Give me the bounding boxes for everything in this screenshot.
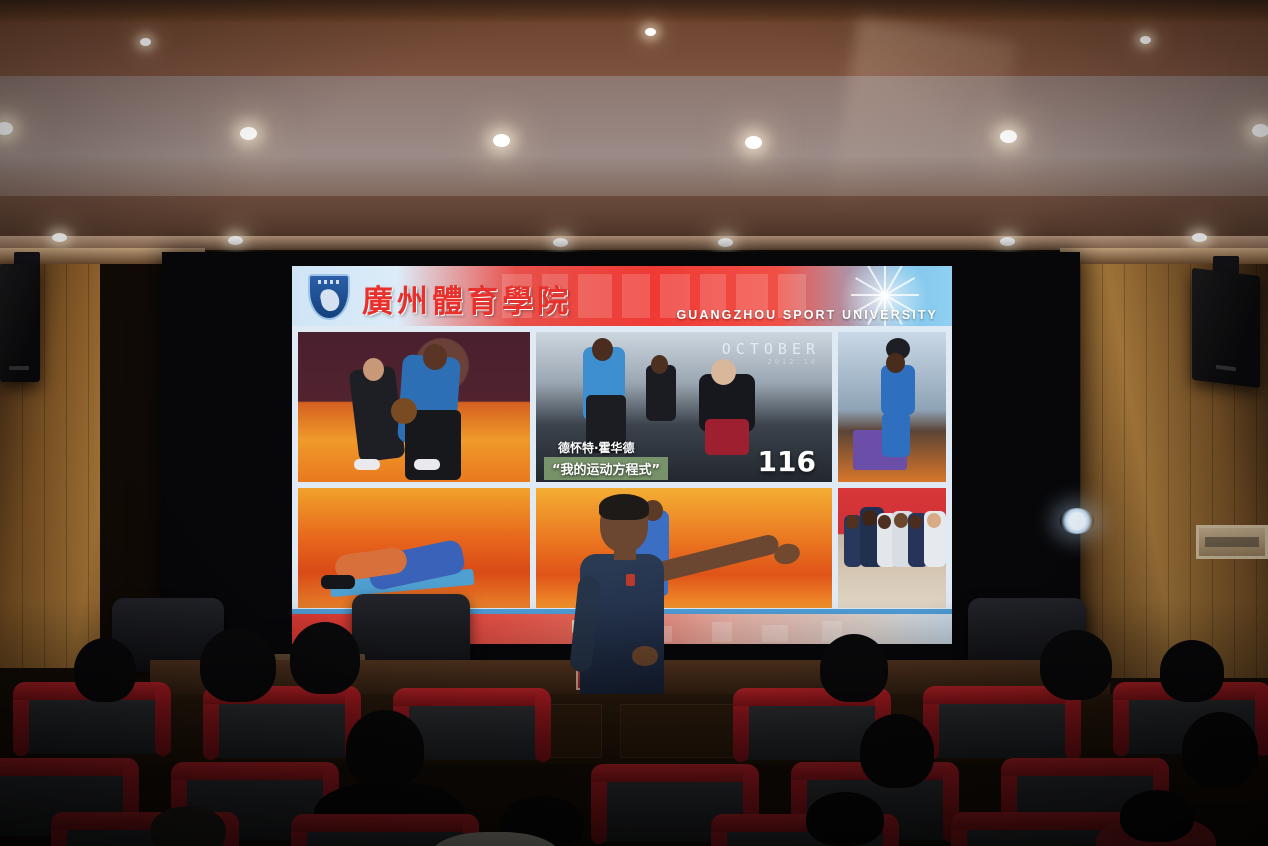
downlight bbox=[1000, 130, 1017, 143]
downlight bbox=[1252, 124, 1268, 137]
photo-gym-training-session: OCTOBER 2012.10 116 德怀特·霍华德 “我的运动方程式” bbox=[536, 332, 832, 482]
downlight bbox=[1192, 233, 1207, 242]
lecture-presenter bbox=[566, 496, 686, 696]
shirt-logo bbox=[626, 574, 635, 586]
theater-seat bbox=[212, 694, 352, 758]
slide-quote: “我的运动方程式” bbox=[544, 457, 668, 480]
presenter-hair bbox=[599, 494, 649, 520]
downlight bbox=[140, 38, 151, 46]
downlight bbox=[718, 238, 733, 247]
audience-head bbox=[200, 628, 276, 702]
audience-head bbox=[1040, 630, 1112, 700]
auditorium-scene: 廣州體育學院 GUANGZHOU SPORT UNIVERSITY bbox=[0, 0, 1268, 846]
ceiling-tier-two bbox=[0, 22, 1268, 76]
slide-month-sub: 2012.10 bbox=[767, 358, 818, 366]
audience-head bbox=[1182, 712, 1258, 788]
audience-head bbox=[290, 622, 360, 694]
downlight bbox=[645, 28, 656, 36]
audience-head bbox=[150, 806, 226, 846]
right-wall-speaker bbox=[1192, 268, 1260, 388]
downlight bbox=[228, 236, 243, 245]
university-crest-icon bbox=[308, 274, 350, 320]
slide-english-title: GUANGZHOU SPORT UNIVERSITY bbox=[676, 308, 938, 322]
audience-head bbox=[860, 714, 934, 788]
photo-team-warmup-line bbox=[838, 488, 946, 608]
audience-head bbox=[820, 634, 888, 702]
downlight bbox=[553, 238, 568, 247]
audience-head bbox=[806, 792, 884, 846]
slide-page-number: 116 bbox=[758, 445, 816, 478]
left-wall-speaker bbox=[0, 264, 40, 382]
wall-plaque bbox=[1196, 525, 1268, 559]
audience-head bbox=[1160, 640, 1224, 702]
downlight bbox=[493, 134, 510, 147]
ceiling-tier-top bbox=[0, 0, 1268, 22]
audience-head bbox=[346, 710, 424, 788]
audience-head bbox=[1120, 790, 1194, 842]
theater-seat bbox=[932, 694, 1072, 758]
audience-head bbox=[74, 638, 136, 702]
slide-header-banner: 廣州體育學院 GUANGZHOU SPORT UNIVERSITY bbox=[292, 266, 952, 326]
slide-month-label: OCTOBER bbox=[722, 340, 820, 358]
projector-lens-flare bbox=[1060, 508, 1094, 534]
downlight bbox=[240, 127, 257, 140]
slide-athlete-name: 德怀特·霍华德 bbox=[558, 439, 635, 456]
downlight bbox=[1000, 237, 1015, 246]
downlight bbox=[52, 233, 67, 242]
ceiling-tier-three bbox=[0, 76, 1268, 154]
downlight bbox=[1140, 36, 1151, 44]
presenter-left-hand bbox=[632, 646, 658, 666]
photo-post-up-drill bbox=[298, 332, 530, 482]
photo-box-jump-medicine-ball bbox=[838, 332, 946, 482]
downlight bbox=[745, 136, 762, 149]
photo-floor-core-stretch bbox=[298, 488, 530, 608]
slide-chinese-title: 廣州體育學院 bbox=[362, 276, 572, 321]
